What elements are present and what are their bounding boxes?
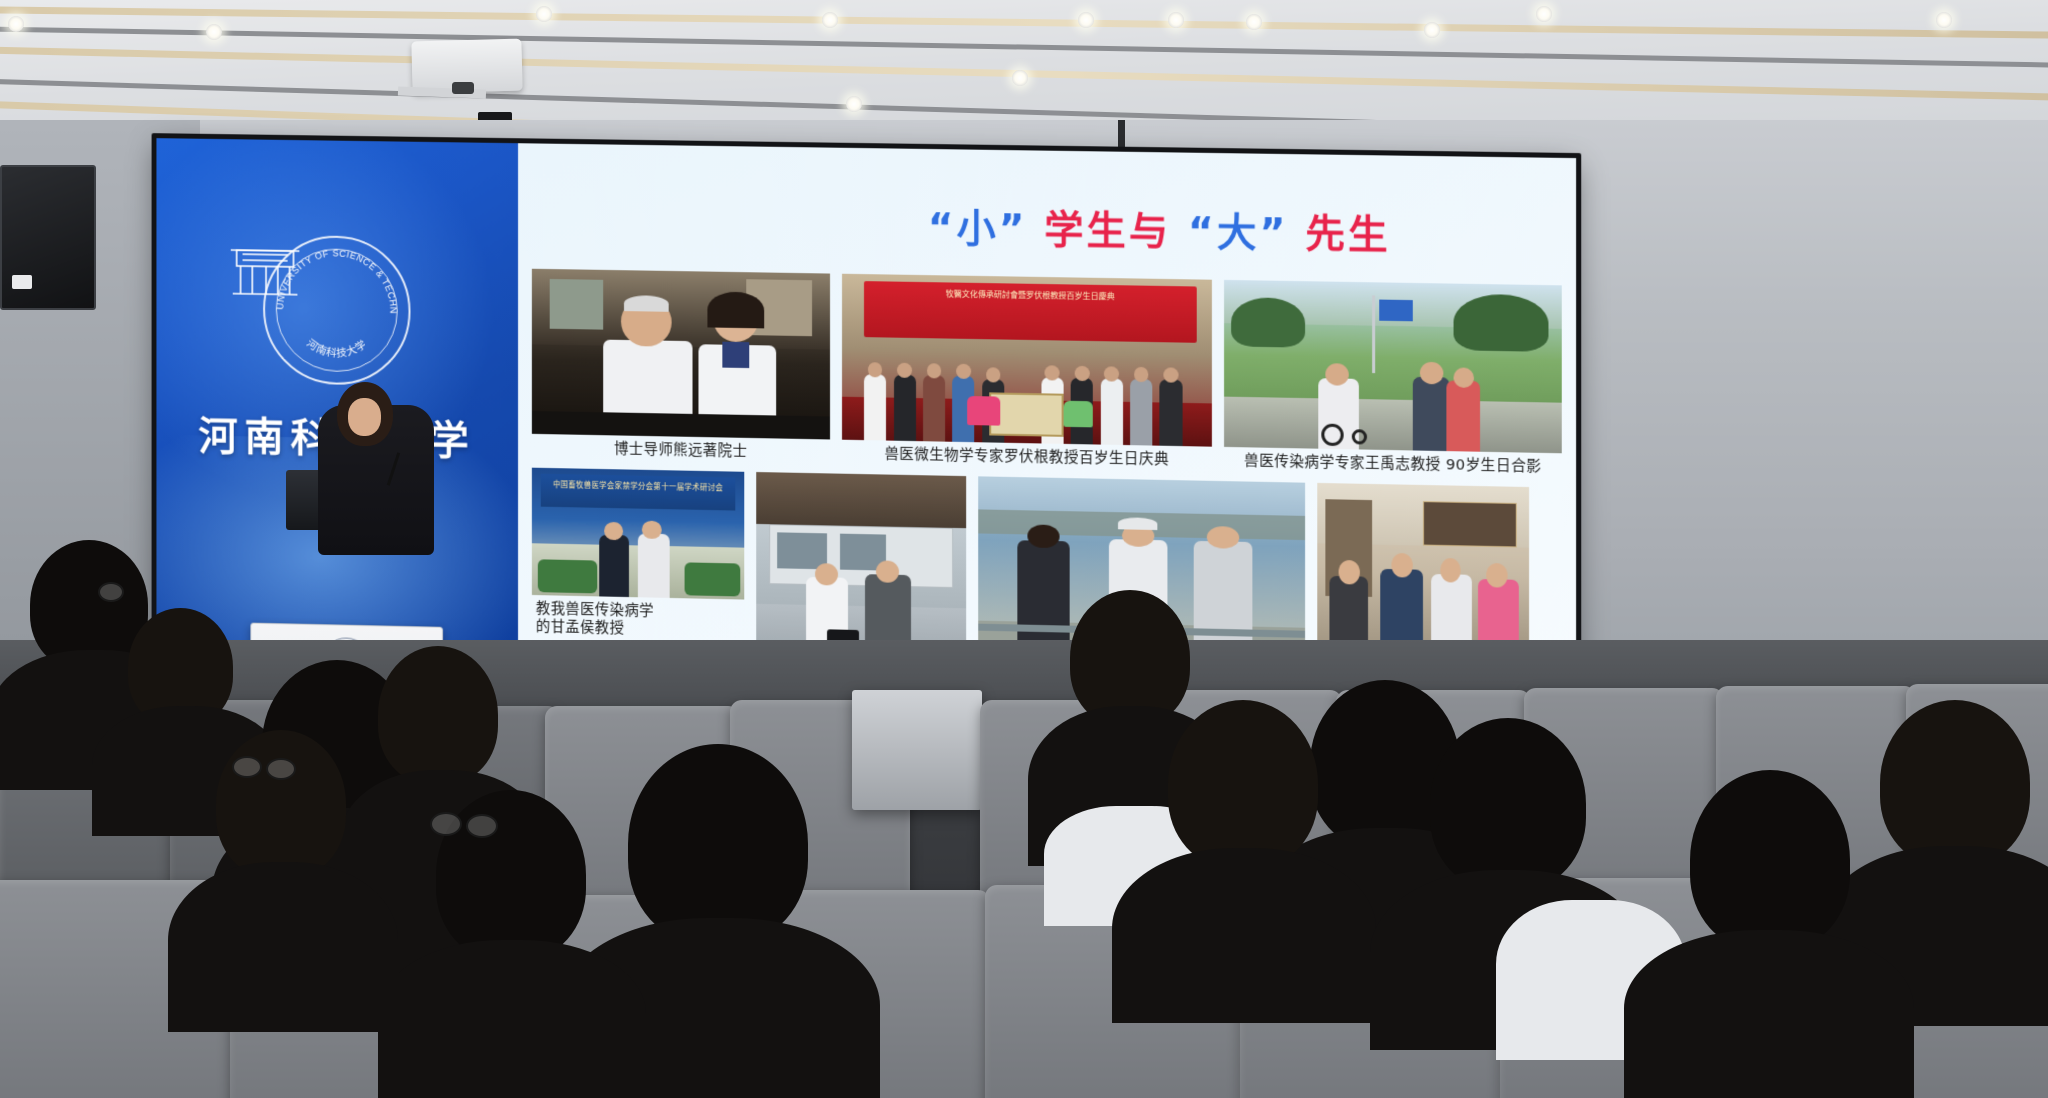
side-table[interactable] bbox=[852, 690, 982, 810]
audience-head bbox=[628, 744, 808, 944]
wall-speaker bbox=[0, 165, 96, 310]
ceiling-light bbox=[8, 16, 24, 32]
audience-head bbox=[378, 646, 498, 784]
audience-shoulders bbox=[168, 862, 398, 1032]
eyeglasses-icon bbox=[266, 758, 296, 780]
photo-row-top: 博士导师熊远著院士 牧醫文化傳承研討會暨罗伏根教授百岁生日慶典 bbox=[532, 269, 1562, 477]
audience-head bbox=[216, 730, 346, 878]
eyeglasses-icon bbox=[232, 756, 262, 778]
photo-group-red-banner: 牧醫文化傳承研討會暨罗伏根教授百岁生日慶典 bbox=[842, 274, 1212, 447]
lecture-hall-scene: HENAN UNIVERSITY OF SCIENCE & TECHNOLOGY… bbox=[0, 0, 2048, 1098]
ceiling-light bbox=[846, 96, 862, 112]
figure-gan-menghou[interactable]: 中国畜牧兽医学会家禁学分会第十一届学术研讨会 教我兽医传染病学 的甘孟侯教授 bbox=[532, 467, 744, 641]
eyeglasses-icon bbox=[98, 582, 124, 602]
university-emblem-icon: HENAN UNIVERSITY OF SCIENCE & TECHNOLOGY… bbox=[263, 235, 410, 386]
audience-head bbox=[1690, 770, 1850, 950]
slide-title-part-1: “小” bbox=[928, 206, 1028, 253]
audience-head bbox=[1168, 700, 1318, 868]
caption-luo-fugen: 兽医微生物学专家罗伏根教授百岁生日庆典 bbox=[842, 445, 1212, 471]
slide-title-part-3: “大” bbox=[1188, 210, 1288, 257]
caption-gan-menghou: 教我兽医传染病学 的甘孟侯教授 bbox=[532, 600, 744, 642]
photo-elderly-man-and-woman bbox=[532, 269, 830, 440]
ceiling-light bbox=[1246, 14, 1262, 30]
building-roof bbox=[756, 472, 966, 528]
photo-conference-stage: 中国畜牧兽医学会家禁学分会第十一届学术研讨会 bbox=[532, 467, 744, 599]
eyeglasses-icon bbox=[466, 814, 498, 838]
slide-title-part-4: 先生 bbox=[1305, 212, 1390, 259]
caption-line-2: 的甘孟侯教授 bbox=[536, 618, 744, 641]
event-banner: 牧醫文化傳承研討會暨罗伏根教授百岁生日慶典 bbox=[864, 281, 1197, 343]
ceiling-light bbox=[536, 6, 552, 22]
ceiling-light bbox=[1168, 12, 1184, 28]
ceiling-light bbox=[1012, 70, 1028, 86]
ceiling-light bbox=[1078, 12, 1094, 28]
calligraphy-plaque bbox=[1423, 501, 1516, 547]
audience-shoulders bbox=[1112, 848, 1376, 1023]
figure-wang-yuzhi[interactable]: 兽医传染病学专家王禹志教授 90岁生日合影 bbox=[1224, 280, 1562, 477]
svg-text:河南科技大学: 河南科技大学 bbox=[304, 336, 369, 360]
figure-luo-fugen[interactable]: 牧醫文化傳承研討會暨罗伏根教授百岁生日慶典 bbox=[842, 274, 1212, 471]
eyeglasses-icon bbox=[430, 812, 462, 836]
emblem-cn-text: 河南科技大学 bbox=[304, 336, 369, 360]
slide-left-panel: HENAN UNIVERSITY OF SCIENCE & TECHNOLOGY… bbox=[156, 138, 518, 660]
caption-wang-yuzhi: 兽医传染病学专家王禹志教授 90岁生日合影 bbox=[1224, 452, 1562, 477]
gate-icon bbox=[227, 236, 303, 299]
ceiling-light bbox=[1536, 6, 1552, 22]
audience-head bbox=[436, 790, 586, 960]
photo-garden-wheelchair bbox=[1224, 280, 1562, 453]
slide-right-panel: “小” 学生与 “大” 先生 bbox=[518, 143, 1576, 684]
ceiling-light bbox=[1936, 12, 1952, 28]
slide-title-part-2: 学生与 bbox=[1044, 208, 1171, 255]
conference-banner: 中国畜牧兽医学会家禁学分会第十一届学术研讨会 bbox=[540, 474, 735, 511]
audience-shoulders bbox=[378, 940, 646, 1098]
ceiling-light bbox=[1424, 22, 1440, 38]
caption-xiong-yuanzhu: 博士导师熊远著院士 bbox=[532, 439, 830, 463]
ceiling-light bbox=[822, 12, 838, 28]
audience-head bbox=[1880, 700, 2030, 866]
presenter-face bbox=[348, 398, 381, 436]
figure-xiong-yuanzhu[interactable]: 博士导师熊远著院士 bbox=[532, 269, 830, 463]
slide-title: “小” 学生与 “大” 先生 bbox=[532, 191, 1562, 263]
ceiling-light bbox=[206, 24, 222, 40]
audience-shoulders bbox=[1624, 930, 1914, 1098]
audience-head bbox=[1430, 718, 1586, 890]
projector-lens bbox=[452, 82, 474, 94]
